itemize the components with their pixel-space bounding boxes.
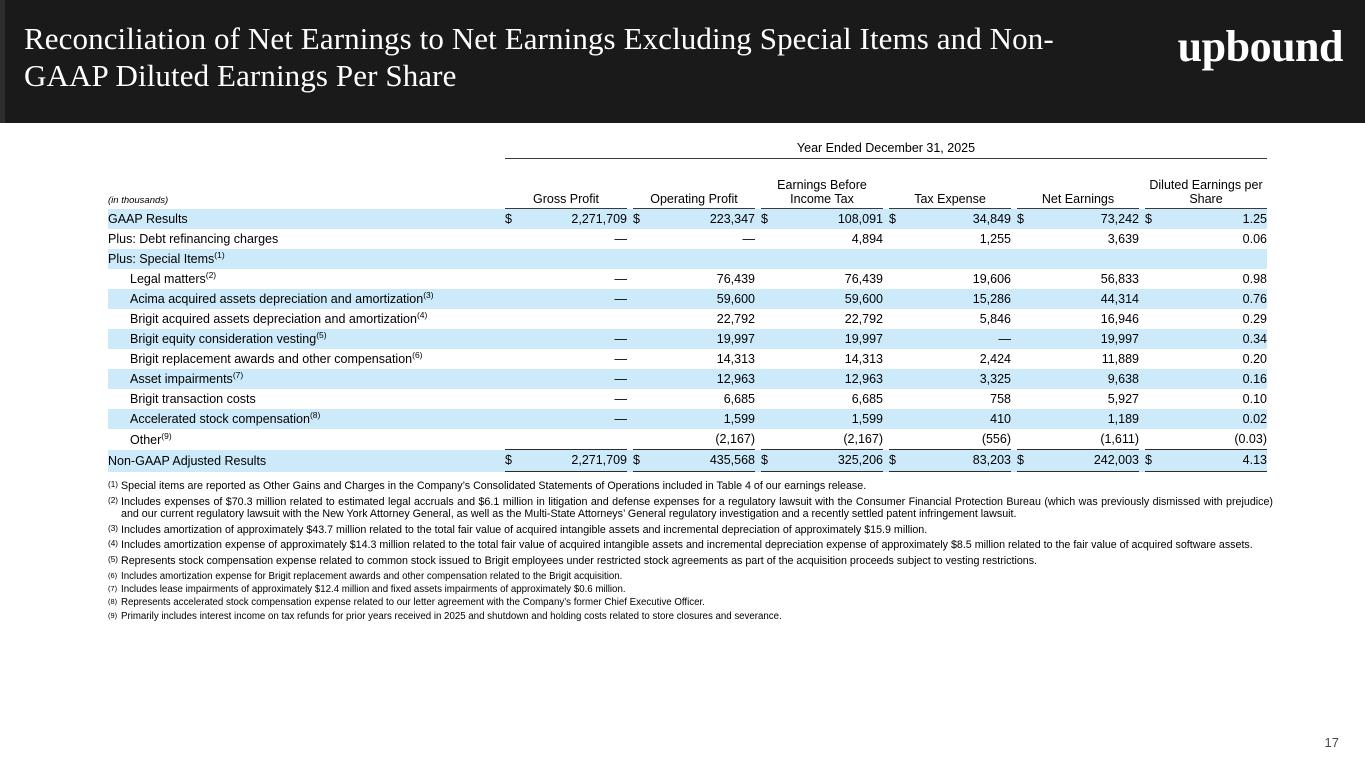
- currency-symbol-cell: [761, 389, 783, 409]
- table-row: Accelerated stock compensation(8)—1,5991…: [108, 409, 1267, 429]
- currency-symbol-cell: [761, 229, 783, 249]
- footnote: (8)Represents accelerated stock compensa…: [108, 597, 1273, 608]
- table-row: Brigit equity consideration vesting(5)—1…: [108, 329, 1267, 349]
- row-label: GAAP Results: [108, 209, 505, 230]
- table-cell-value: 5,846: [911, 309, 1011, 329]
- row-label: Brigit acquired assets depreciation and …: [108, 309, 505, 329]
- table-total-row: Non-GAAP Adjusted Results$2,271,709$435,…: [108, 450, 1267, 472]
- table-cell-value: —: [527, 349, 627, 369]
- currency-symbol-cell: [633, 269, 655, 289]
- currency-symbol-cell: $: [505, 209, 527, 230]
- footnote: (9)Primarily includes interest income on…: [108, 611, 1273, 622]
- currency-symbol-cell: [505, 409, 527, 429]
- currency-symbol-cell: [761, 369, 783, 389]
- currency-symbol-cell: $: [761, 209, 783, 230]
- table-cell-value: 1,599: [783, 409, 883, 429]
- table-cell-value: 22,792: [783, 309, 883, 329]
- table-cell-value: —: [527, 229, 627, 249]
- currency-symbol-cell: [633, 309, 655, 329]
- reconciliation-table: Year Ended December 31, 2025 (in thousan…: [108, 135, 1267, 475]
- footnote-text: Includes amortization expense of approxi…: [121, 539, 1253, 551]
- footnote: (2)Includes expenses of $70.3 million re…: [108, 496, 1273, 521]
- table-cell-value: 0.20: [1167, 349, 1267, 369]
- currency-symbol-cell: [1145, 229, 1167, 249]
- footnote: (7)Includes lease impairments of approxi…: [108, 584, 1273, 595]
- footnote-text: Special items are reported as Other Gain…: [121, 480, 866, 492]
- table-row: Asset impairments(7)—12,96312,9633,3259,…: [108, 369, 1267, 389]
- total-rule: [505, 472, 527, 476]
- table-cell-value: 19,606: [911, 269, 1011, 289]
- upbound-logo: upbound: [1178, 25, 1343, 69]
- footnote: (5)Represents stock compensation expense…: [108, 555, 1273, 568]
- total-rule: [1167, 472, 1267, 476]
- total-rule: [1145, 472, 1167, 476]
- total-rule: [633, 472, 655, 476]
- footnote-marker: (1): [214, 250, 224, 260]
- footnote-marker: (4): [108, 538, 118, 551]
- currency-symbol-cell: [505, 229, 527, 249]
- total-row-label: Non-GAAP Adjusted Results: [108, 450, 505, 472]
- table-cell-value: 12,963: [655, 369, 755, 389]
- footnote-marker: (3): [108, 523, 118, 536]
- total-double-rule-row: [108, 472, 1267, 476]
- footnote-text: Primarily includes interest income on ta…: [121, 611, 782, 622]
- table-cell-value: [1167, 249, 1267, 269]
- footnote-marker: (8): [108, 596, 117, 607]
- table-cell-value: [655, 249, 755, 269]
- table-cell-value: 223,347: [655, 209, 755, 230]
- column-header-tax-expense: Tax Expense: [889, 160, 1011, 209]
- table-cell-value: —: [527, 369, 627, 389]
- table-cell-value: 15,286: [911, 289, 1011, 309]
- total-rule: [527, 472, 627, 476]
- currency-symbol-cell: $: [889, 450, 911, 472]
- table-cell-value: 758: [911, 389, 1011, 409]
- table-cell-value: (1,611): [1039, 429, 1139, 450]
- row-label: Plus: Special Items(1): [108, 249, 505, 269]
- table-cell-value: 6,685: [783, 389, 883, 409]
- table-cell-value: 0.98: [1167, 269, 1267, 289]
- currency-symbol-cell: [889, 349, 911, 369]
- currency-symbol-cell: [505, 269, 527, 289]
- currency-symbol-cell: [1017, 429, 1039, 450]
- footnote-text: Includes amortization of approximately $…: [121, 524, 927, 536]
- table-cell-value: (556): [911, 429, 1011, 450]
- currency-symbol-cell: [1017, 409, 1039, 429]
- table-cell-value: 435,568: [655, 450, 755, 472]
- page-title: Reconciliation of Net Earnings to Net Ea…: [24, 20, 1104, 94]
- currency-symbol-cell: [1017, 389, 1039, 409]
- table-cell-value: 3,639: [1039, 229, 1139, 249]
- row-label: Brigit equity consideration vesting(5): [108, 329, 505, 349]
- row-label: Plus: Debt refinancing charges: [108, 229, 505, 249]
- column-header-earnings-before-income-tax: Earnings Before Income Tax: [761, 160, 883, 209]
- period-header-row: Year Ended December 31, 2025: [108, 135, 1267, 159]
- table-cell-value: 22,792: [655, 309, 755, 329]
- currency-symbol-cell: [761, 429, 783, 450]
- table-cell-value: 4,894: [783, 229, 883, 249]
- total-rule: [1017, 472, 1039, 476]
- table-cell-value: 0.34: [1167, 329, 1267, 349]
- table-cell-value: 19,997: [783, 329, 883, 349]
- total-rule: [1039, 472, 1139, 476]
- header-left-accent: [0, 0, 5, 123]
- currency-symbol-cell: [889, 249, 911, 269]
- currency-symbol-cell: $: [1017, 450, 1039, 472]
- total-rule: [655, 472, 755, 476]
- currency-symbol-cell: [761, 409, 783, 429]
- table-cell-value: 410: [911, 409, 1011, 429]
- currency-symbol-cell: [633, 289, 655, 309]
- currency-symbol-cell: $: [889, 209, 911, 230]
- table-row: Brigit transaction costs—6,6856,6857585,…: [108, 389, 1267, 409]
- table-cell-value: 325,206: [783, 450, 883, 472]
- row-label: Brigit replacement awards and other comp…: [108, 349, 505, 369]
- footnotes: (1)Special items are reported as Other G…: [108, 480, 1273, 624]
- footnote-marker: (7): [108, 583, 117, 594]
- currency-symbol-cell: $: [761, 450, 783, 472]
- table-cell-value: —: [911, 329, 1011, 349]
- currency-symbol-cell: [1017, 349, 1039, 369]
- table-cell-value: (2,167): [783, 429, 883, 450]
- table-cell-value: [527, 249, 627, 269]
- table-row: Legal matters(2)—76,43976,43919,60656,83…: [108, 269, 1267, 289]
- table-cell-value: 242,003: [1039, 450, 1139, 472]
- table-cell-value: 2,424: [911, 349, 1011, 369]
- table-cell-value: 2,271,709: [527, 209, 627, 230]
- currency-symbol-cell: $: [1145, 209, 1167, 230]
- currency-symbol-cell: $: [633, 450, 655, 472]
- page-number: 17: [1325, 735, 1339, 750]
- table-row: Brigit replacement awards and other comp…: [108, 349, 1267, 369]
- table-cell-value: 9,638: [1039, 369, 1139, 389]
- currency-symbol-cell: [889, 409, 911, 429]
- currency-symbol-cell: [633, 349, 655, 369]
- currency-symbol-cell: $: [1145, 450, 1167, 472]
- table-cell-value: —: [527, 329, 627, 349]
- currency-symbol-cell: [1017, 229, 1039, 249]
- table-cell-value: 59,600: [783, 289, 883, 309]
- currency-symbol-cell: [1017, 369, 1039, 389]
- slide-header: Reconciliation of Net Earnings to Net Ea…: [0, 0, 1365, 123]
- total-rule: [911, 472, 1011, 476]
- table-cell-value: 76,439: [655, 269, 755, 289]
- table-cell-value: 14,313: [783, 349, 883, 369]
- footnote-marker: (4): [417, 310, 427, 320]
- table-row: Acima acquired assets depreciation and a…: [108, 289, 1267, 309]
- table-cell-value: 1,189: [1039, 409, 1139, 429]
- currency-symbol-cell: [1145, 249, 1167, 269]
- currency-symbol-cell: [1017, 309, 1039, 329]
- footnote-text: Includes expenses of $70.3 million relat…: [121, 496, 1273, 521]
- currency-symbol-cell: [889, 229, 911, 249]
- table-cell-value: 19,997: [655, 329, 755, 349]
- currency-symbol-cell: [889, 309, 911, 329]
- table-cell-value: 1.25: [1167, 209, 1267, 230]
- table-cell-value: —: [527, 409, 627, 429]
- currency-symbol-cell: [1145, 289, 1167, 309]
- footnote-text: Includes amortization expense for Brigit…: [121, 571, 622, 582]
- table-cell-value: (2,167): [655, 429, 755, 450]
- currency-symbol-cell: [505, 289, 527, 309]
- currency-symbol-cell: [1145, 309, 1167, 329]
- table-cell-value: 59,600: [655, 289, 755, 309]
- currency-symbol-cell: [505, 349, 527, 369]
- currency-symbol-cell: [1145, 389, 1167, 409]
- footnote-marker: (5): [316, 330, 326, 340]
- currency-symbol-cell: [505, 309, 527, 329]
- currency-symbol-cell: [633, 429, 655, 450]
- currency-symbol-cell: [633, 229, 655, 249]
- table-row: Plus: Debt refinancing charges——4,8941,2…: [108, 229, 1267, 249]
- unit-note: (in thousands): [108, 160, 505, 209]
- footnote-marker: (3): [423, 290, 433, 300]
- column-header-diluted-eps: Diluted Earnings per Share: [1145, 160, 1267, 209]
- currency-symbol-cell: [1017, 329, 1039, 349]
- table-cell-value: 2,271,709: [527, 450, 627, 472]
- footnote: (6)Includes amortization expense for Bri…: [108, 571, 1273, 582]
- table-cell-value: (0.03): [1167, 429, 1267, 450]
- footnote-marker: (9): [108, 610, 117, 621]
- column-header-net-earnings: Net Earnings: [1017, 160, 1139, 209]
- footnote-text: Represents stock compensation expense re…: [121, 555, 1037, 567]
- total-rule: [889, 472, 911, 476]
- currency-symbol-cell: [633, 249, 655, 269]
- table-row: Other(9)(2,167)(2,167)(556)(1,611)(0.03): [108, 429, 1267, 450]
- table-cell-value: 73,242: [1039, 209, 1139, 230]
- footnote: (1)Special items are reported as Other G…: [108, 480, 1273, 493]
- spacer-cell: [108, 135, 505, 159]
- currency-symbol-cell: [889, 329, 911, 349]
- table-cell-value: [911, 249, 1011, 269]
- currency-symbol-cell: [761, 269, 783, 289]
- table-cell-value: 1,255: [911, 229, 1011, 249]
- table-row: Plus: Special Items(1): [108, 249, 1267, 269]
- footnote-marker: (8): [310, 410, 320, 420]
- table-cell-value: 56,833: [1039, 269, 1139, 289]
- table-cell-value: 1,599: [655, 409, 755, 429]
- table-cell-value: 14,313: [655, 349, 755, 369]
- currency-symbol-cell: [505, 429, 527, 450]
- table-cell-value: 83,203: [911, 450, 1011, 472]
- currency-symbol-cell: [1145, 369, 1167, 389]
- currency-symbol-cell: [1145, 269, 1167, 289]
- currency-symbol-cell: [761, 289, 783, 309]
- currency-symbol-cell: [1017, 289, 1039, 309]
- table-cell-value: [783, 249, 883, 269]
- table-cell-value: —: [527, 389, 627, 409]
- table-cell-value: —: [527, 289, 627, 309]
- table-cell-value: 6,685: [655, 389, 755, 409]
- table-row: GAAP Results$2,271,709$223,347$108,091$3…: [108, 209, 1267, 230]
- currency-symbol-cell: [1145, 349, 1167, 369]
- currency-symbol-cell: [1145, 429, 1167, 450]
- currency-symbol-cell: [889, 289, 911, 309]
- table-cell-value: 11,889: [1039, 349, 1139, 369]
- total-rule: [783, 472, 883, 476]
- currency-symbol-cell: [633, 409, 655, 429]
- slide-body: Year Ended December 31, 2025 (in thousan…: [0, 123, 1365, 768]
- table-cell-value: 0.16: [1167, 369, 1267, 389]
- currency-symbol-cell: $: [633, 209, 655, 230]
- footnote-marker: (6): [412, 350, 422, 360]
- currency-symbol-cell: $: [505, 450, 527, 472]
- currency-symbol-cell: [1145, 409, 1167, 429]
- footnote-marker: (9): [161, 430, 171, 440]
- table-cell-value: 16,946: [1039, 309, 1139, 329]
- total-rule: [761, 472, 783, 476]
- table-cell-value: [527, 429, 627, 450]
- currency-symbol-cell: [1145, 329, 1167, 349]
- row-label: Acima acquired assets depreciation and a…: [108, 289, 505, 309]
- table-cell-value: —: [527, 269, 627, 289]
- footnote-marker: (7): [233, 370, 243, 380]
- table-cell-value: 12,963: [783, 369, 883, 389]
- table-cell-value: [1039, 249, 1139, 269]
- footnote-marker: (6): [108, 570, 117, 581]
- currency-symbol-cell: [761, 249, 783, 269]
- table-cell-value: 0.02: [1167, 409, 1267, 429]
- table-cell-value: 3,325: [911, 369, 1011, 389]
- row-label: Accelerated stock compensation(8): [108, 409, 505, 429]
- table-cell-value: —: [655, 229, 755, 249]
- footnote: (3)Includes amortization of approximatel…: [108, 524, 1273, 537]
- column-header-operating-profit: Operating Profit: [633, 160, 755, 209]
- currency-symbol-cell: $: [1017, 209, 1039, 230]
- footnote-marker: (2): [108, 495, 118, 508]
- currency-symbol-cell: [633, 369, 655, 389]
- table-cell-value: 0.76: [1167, 289, 1267, 309]
- period-header: Year Ended December 31, 2025: [505, 135, 1267, 159]
- footnote-marker: (2): [206, 270, 216, 280]
- table-cell-value: 44,314: [1039, 289, 1139, 309]
- table-row: Brigit acquired assets depreciation and …: [108, 309, 1267, 329]
- footnote-text: Includes lease impairments of approximat…: [121, 584, 626, 595]
- table-cell-value: 0.06: [1167, 229, 1267, 249]
- currency-symbol-cell: [1017, 269, 1039, 289]
- currency-symbol-cell: [889, 369, 911, 389]
- currency-symbol-cell: [889, 429, 911, 450]
- row-label: Legal matters(2): [108, 269, 505, 289]
- spacer-cell: [108, 472, 505, 476]
- table-cell-value: 76,439: [783, 269, 883, 289]
- row-label: Brigit transaction costs: [108, 389, 505, 409]
- footnote-text: Represents accelerated stock compensatio…: [121, 597, 705, 608]
- footnote-marker: (1): [108, 479, 118, 492]
- row-label: Asset impairments(7): [108, 369, 505, 389]
- currency-symbol-cell: [1017, 249, 1039, 269]
- currency-symbol-cell: [761, 329, 783, 349]
- currency-symbol-cell: [889, 389, 911, 409]
- currency-symbol-cell: [889, 269, 911, 289]
- table-cell-value: 34,849: [911, 209, 1011, 230]
- table-cell-value: 19,997: [1039, 329, 1139, 349]
- currency-symbol-cell: [505, 389, 527, 409]
- table-cell-value: 5,927: [1039, 389, 1139, 409]
- table-cell-value: 108,091: [783, 209, 883, 230]
- currency-symbol-cell: [633, 389, 655, 409]
- table-cell-value: 0.10: [1167, 389, 1267, 409]
- column-header-gross-profit: Gross Profit: [505, 160, 627, 209]
- currency-symbol-cell: [761, 309, 783, 329]
- currency-symbol-cell: [505, 329, 527, 349]
- footnote-marker: (5): [108, 554, 118, 567]
- currency-symbol-cell: [761, 349, 783, 369]
- column-header-row: (in thousands) Gross Profit Operating Pr…: [108, 160, 1267, 209]
- footnote: (4)Includes amortization expense of appr…: [108, 539, 1273, 552]
- row-label: Other(9): [108, 429, 505, 450]
- currency-symbol-cell: [505, 369, 527, 389]
- table-cell-value: [527, 309, 627, 329]
- currency-symbol-cell: [633, 329, 655, 349]
- currency-symbol-cell: [505, 249, 527, 269]
- table-cell-value: 4.13: [1167, 450, 1267, 472]
- table-cell-value: 0.29: [1167, 309, 1267, 329]
